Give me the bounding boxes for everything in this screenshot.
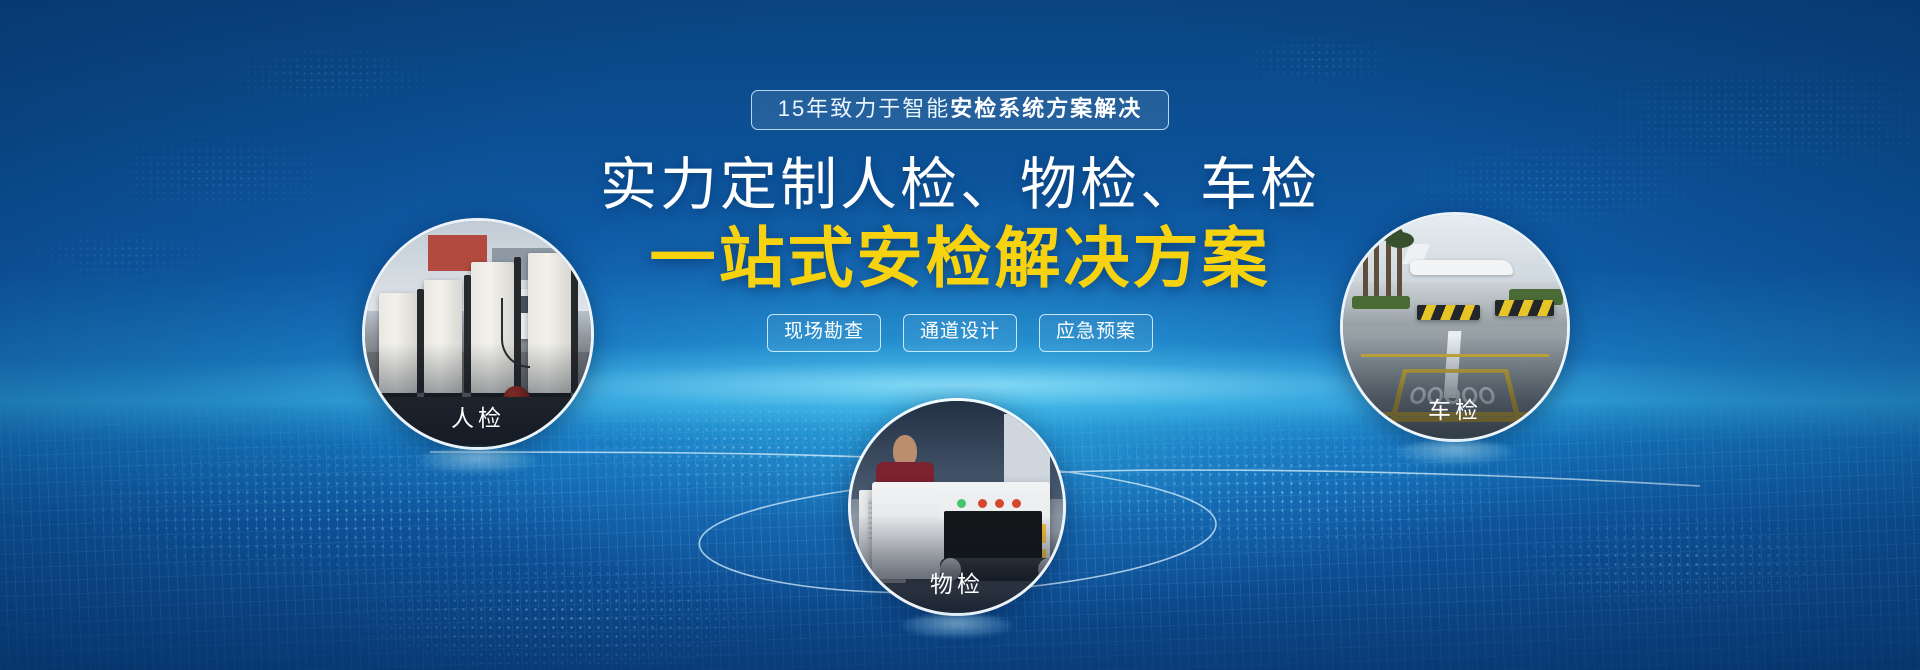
node-people-inspection[interactable]: 人检 [362, 218, 594, 450]
feature-pill-emergency-plan[interactable]: 应急预案 [1039, 314, 1153, 352]
tagline-prefix: 15年致力于智能 [778, 96, 950, 121]
photo-walk-through-detectors [365, 221, 591, 447]
node-vehicle-reflection [1396, 440, 1514, 465]
node-vehicle-photo: 车检 [1340, 212, 1570, 442]
headline-primary: 实力定制人检、物检、车检 [580, 154, 1340, 218]
headline-accent: 一站式安检解决方案 [580, 222, 1340, 295]
tagline-emphasis: 安检系统方案解决 [950, 96, 1142, 121]
photo-xray-baggage-scanner [851, 401, 1063, 613]
node-people-reflection [418, 448, 538, 474]
feature-pill-group: 现场勘查 通道设计 应急预案 [580, 314, 1340, 352]
tagline-badge: 15年致力于智能安检系统方案解决 [751, 90, 1170, 130]
node-baggage-reflection [901, 614, 1013, 638]
hero-text-block: 15年致力于智能安检系统方案解决 实力定制人检、物检、车检 一站式安检解决方案 … [580, 90, 1340, 352]
feature-pill-site-survey[interactable]: 现场勘查 [767, 314, 881, 352]
node-people-photo: 人检 [362, 218, 594, 450]
photo-vehicle-checkpoint [1343, 215, 1567, 439]
node-baggage-photo: 物检 [848, 398, 1066, 616]
feature-pill-channel-design[interactable]: 通道设计 [903, 314, 1017, 352]
node-baggage-inspection[interactable]: 物检 [848, 398, 1066, 616]
security-inspection-hero-banner: 人检 [0, 0, 1920, 670]
node-vehicle-inspection[interactable]: 车检 [1340, 212, 1570, 442]
